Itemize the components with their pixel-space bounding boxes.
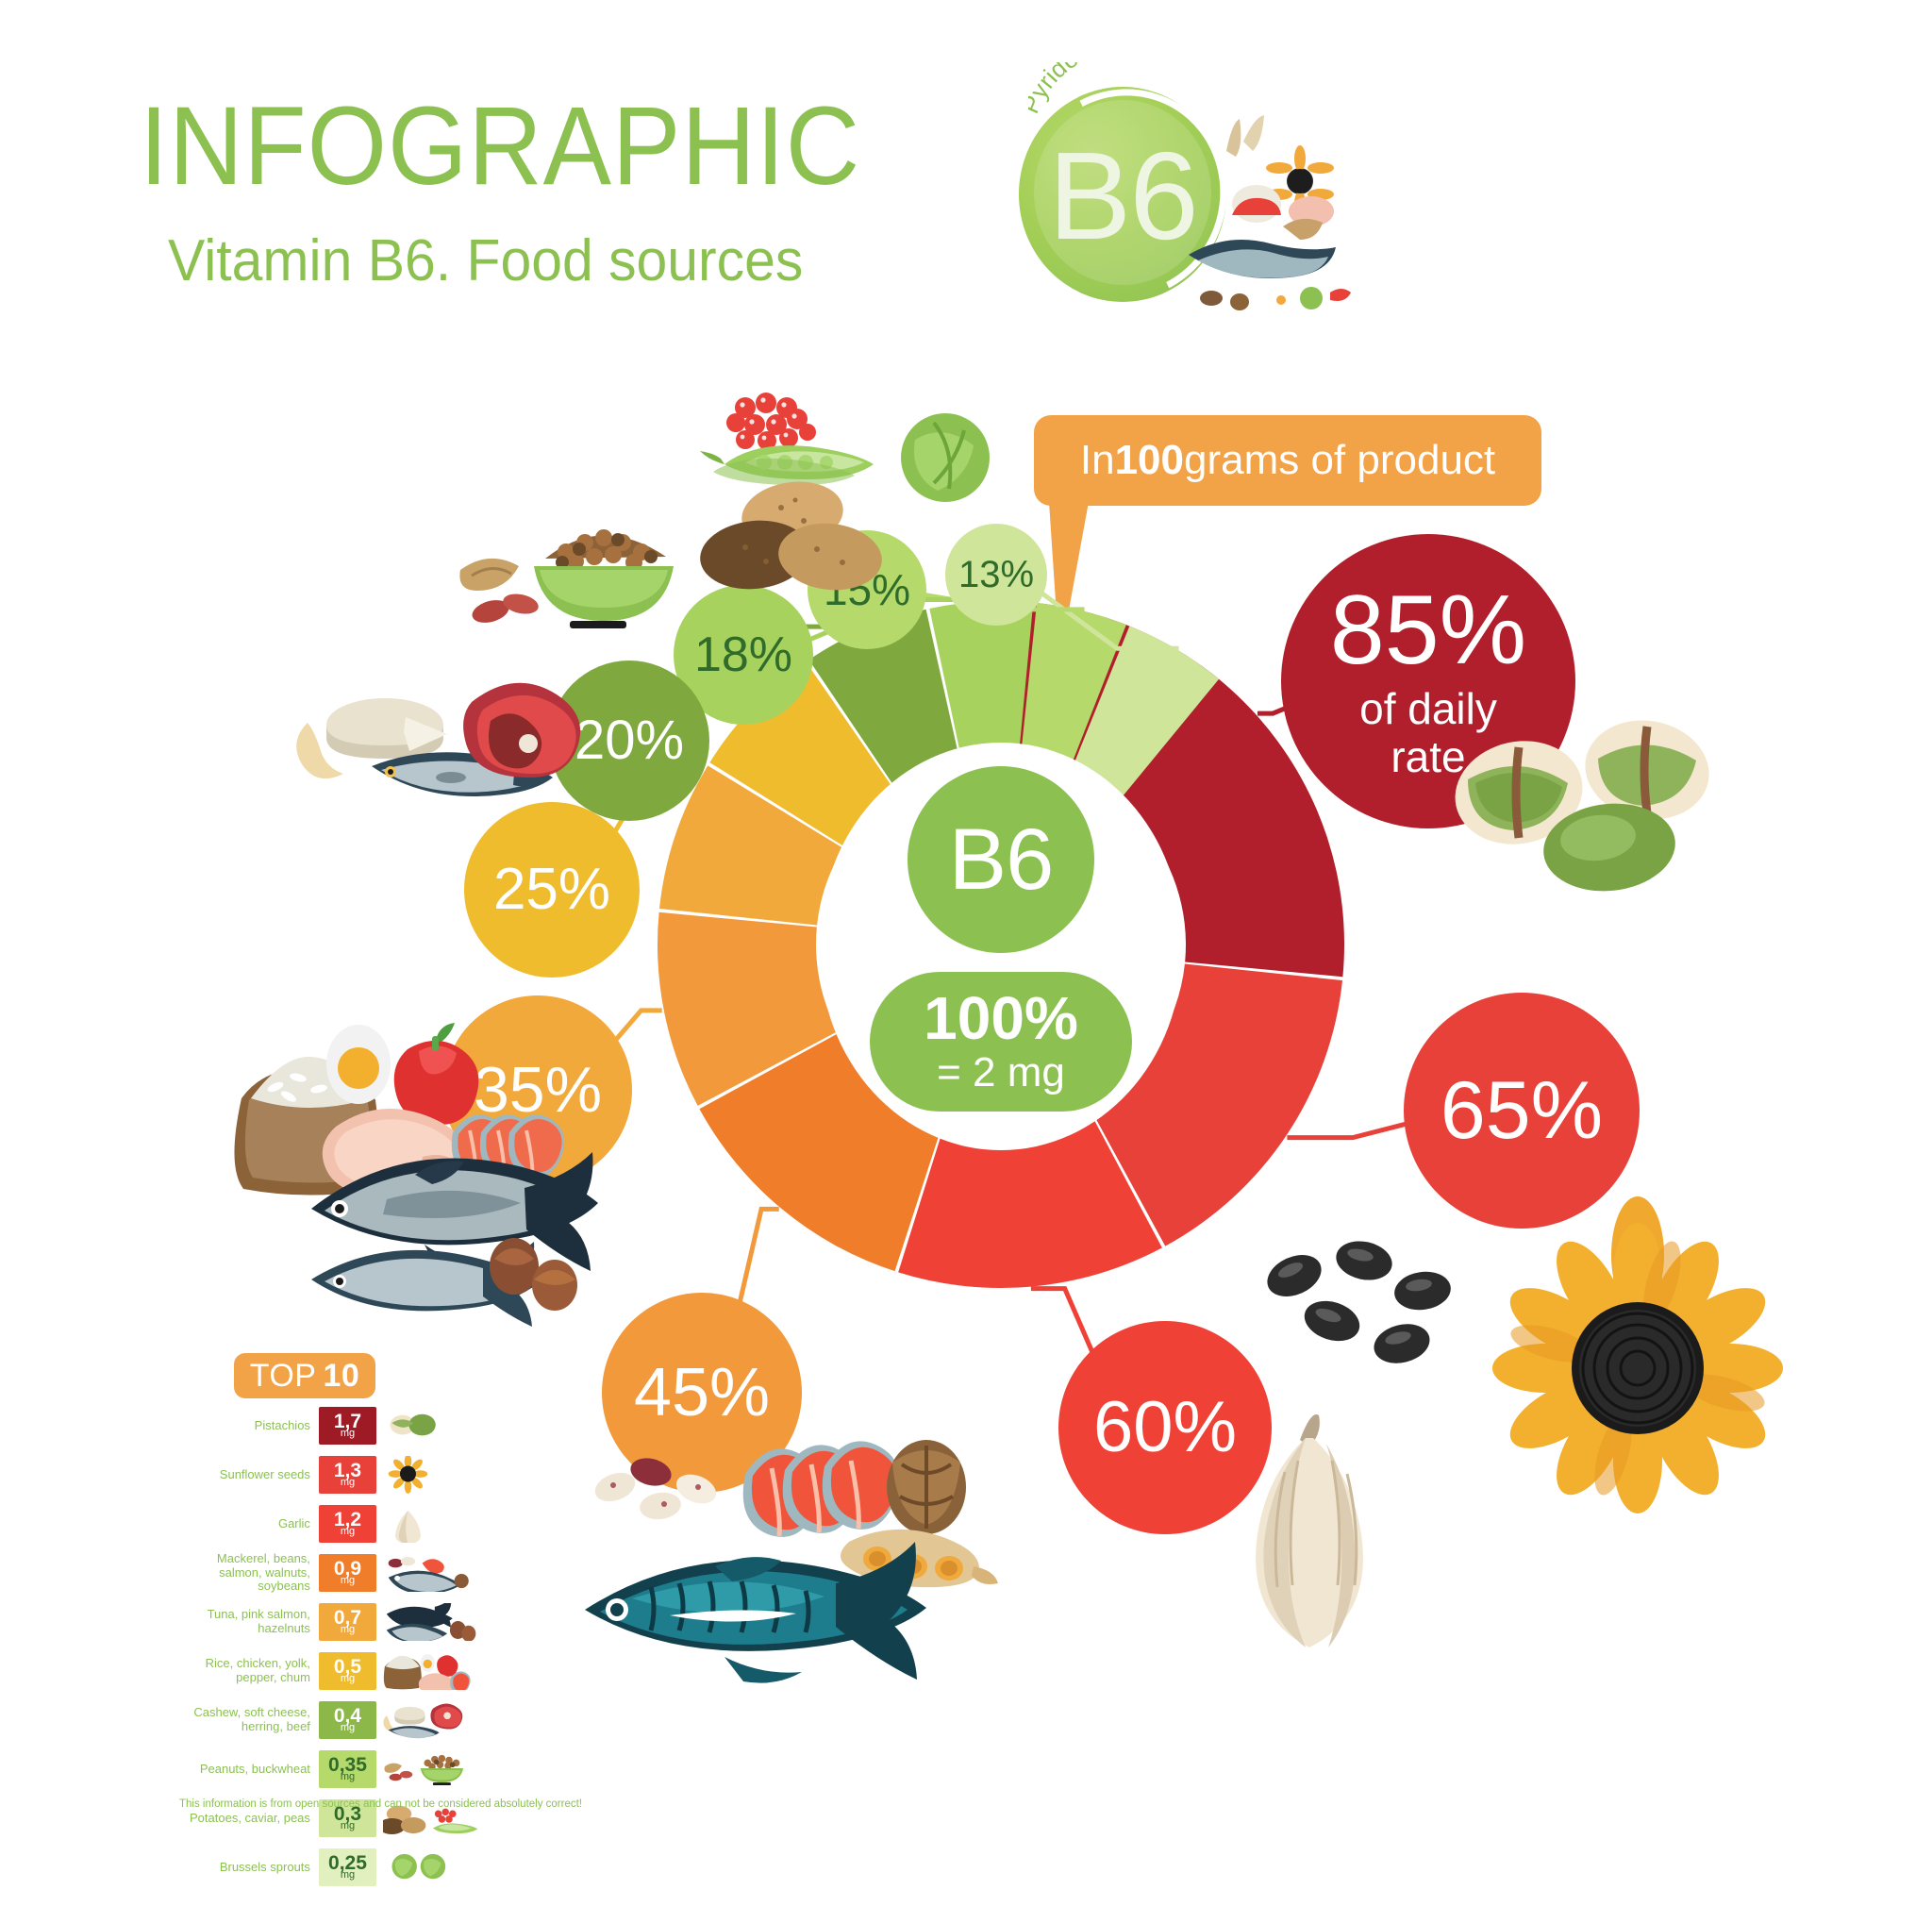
- percent-bubble-value: 85%: [1330, 581, 1526, 679]
- percent-bubble-value: 60%: [1093, 1392, 1237, 1463]
- percent-bubble-value: 13%: [958, 556, 1034, 594]
- top10-row-value-box: 0,35mg: [319, 1750, 376, 1788]
- top10-row-label: Mackerel, beans, salmon, walnuts, soybea…: [179, 1552, 319, 1595]
- percent-bubble-25: 25%: [464, 802, 640, 978]
- top10-badge-number: 10: [323, 1358, 359, 1395]
- callout-amount: 100: [1115, 437, 1184, 484]
- percent-bubble-value: 35%: [474, 1058, 602, 1122]
- callout-suffix: grams of product: [1184, 437, 1495, 484]
- page-subtitle: Vitamin B6. Food sources: [168, 232, 803, 291]
- hazelnuts-icon: [490, 1238, 577, 1311]
- percent-bubble-60: 60%: [1058, 1321, 1272, 1534]
- rice-chicken-icon: [383, 1652, 481, 1690]
- top10-row-unit: mg: [341, 1870, 355, 1881]
- top10-row-unit: mg: [341, 1625, 355, 1635]
- top10-row-value-box: 1,7mg: [319, 1407, 376, 1445]
- caviar-icon: [726, 393, 816, 450]
- b6-logo-badge: B6 Pyridoxine: [981, 57, 1358, 321]
- percent-bubble-caption: of dailyrate: [1359, 685, 1497, 780]
- top10-row: Mackerel, beans, salmon, walnuts, soybea…: [179, 1551, 481, 1595]
- top10-row-unit: mg: [341, 1527, 355, 1537]
- top10-badge: TOP10: [234, 1353, 375, 1398]
- top10-row-value-box: 0,9mg: [319, 1554, 376, 1592]
- svg-text:Pyridoxine: Pyridoxine: [1028, 62, 1124, 118]
- soybeans-icon: [841, 1530, 998, 1587]
- cashew-icon: [296, 723, 343, 778]
- mackerel-icon: [585, 1542, 926, 1683]
- top10-row-label: Peanuts, buckwheat: [179, 1763, 319, 1777]
- percent-bubble-value: 20%: [575, 713, 684, 768]
- cheese-beef-icon: [383, 1701, 481, 1739]
- buckwheat-bowl-icon: [534, 529, 674, 628]
- percent-bubble-15: 15%: [808, 530, 926, 649]
- top10-row-unit: mg: [341, 1478, 355, 1488]
- top10-row: Garlic1,2mg: [179, 1502, 481, 1546]
- top10-badge-text: TOP: [250, 1358, 317, 1395]
- top10-row-label: Cashew, soft cheese, herring, beef: [179, 1706, 319, 1734]
- top10-row-label: Garlic: [179, 1517, 319, 1531]
- page-title: INFOGRAPHIC: [140, 91, 860, 202]
- top10-row-label: Sunflower seeds: [179, 1468, 319, 1482]
- top10-row-value-box: 0,4mg: [319, 1701, 376, 1739]
- top10-row-unit: mg: [341, 1576, 355, 1586]
- chicken-icon: [323, 1109, 468, 1200]
- top10-row-unit: mg: [341, 1821, 355, 1831]
- percent-bubble-value: 45%: [634, 1359, 770, 1427]
- egg-yolk-icon: [326, 1025, 391, 1104]
- sunflower-icon: [1492, 1196, 1783, 1513]
- tuna-hazelnut-icon: [383, 1603, 481, 1641]
- food-pile-icon: [1170, 113, 1358, 311]
- center-b6-badge: B6: [908, 766, 1094, 953]
- percent-bubble-value: 65%: [1441, 1070, 1603, 1151]
- top10-rows: Pistachios1,7mgSunflower seeds1,3mgGarli…: [179, 1404, 481, 1889]
- top10-row-value-box: 0,7mg: [319, 1603, 376, 1641]
- herring-icon: [372, 752, 553, 796]
- percent-bubble-85: 85%of dailyrate: [1281, 534, 1575, 828]
- percent-bubble-value: 25%: [493, 861, 610, 919]
- percent-bubble-35: 35%: [443, 995, 632, 1184]
- fish-beans-icon: [383, 1554, 481, 1592]
- infographic-canvas: INFOGRAPHIC Vitamin B6. Food sources B6 …: [0, 0, 1932, 1923]
- rice-sack-icon: [234, 1057, 378, 1196]
- percent-bubble-value: 18%: [694, 630, 792, 679]
- top10-row-label: Brussels sprouts: [179, 1861, 319, 1875]
- brussels-sprouts-icon: [383, 1848, 481, 1886]
- top10-row-value-box: 0,25mg: [319, 1848, 376, 1886]
- garlic-icon: [383, 1505, 481, 1543]
- leader-line-60: [1031, 1289, 1092, 1352]
- top10-row-value-box: 1,3mg: [319, 1456, 376, 1494]
- percent-bubble-65: 65%: [1404, 993, 1640, 1229]
- garlic-icon: [1256, 1414, 1363, 1647]
- top10-row: Peanuts, buckwheat0,35mg: [179, 1747, 481, 1791]
- top10-row: Cashew, soft cheese, herring, beef0,4mg: [179, 1698, 481, 1742]
- callout-prefix: In: [1080, 437, 1115, 484]
- percent-bubble-45: 45%: [602, 1293, 802, 1493]
- pink-salmon-icon: [311, 1242, 538, 1327]
- top10-row: Brussels sprouts0,25mg: [179, 1846, 481, 1889]
- top10-row: Tuna, pink salmon, hazelnuts0,7mg: [179, 1600, 481, 1644]
- top10-row-unit: mg: [341, 1674, 355, 1684]
- callout-banner: In 100 grams of product: [1034, 415, 1541, 506]
- top10-row-label: Pistachios: [179, 1419, 319, 1433]
- percent-bubble-20: 20%: [549, 661, 709, 821]
- sunflower-icon: [383, 1456, 481, 1494]
- center-daily-rate-pill: 100% = 2 mg: [870, 972, 1132, 1112]
- peanuts-icon: [459, 559, 540, 627]
- center-percent: 100%: [924, 987, 1078, 1050]
- top10-row-label: Tuna, pink salmon, hazelnuts: [179, 1608, 319, 1636]
- top10-row-unit: mg: [341, 1772, 355, 1782]
- top10-row-label: Rice, chicken, yolk, pepper, chum: [179, 1657, 319, 1685]
- brussels-sprout-icon: [901, 413, 990, 502]
- peas-icon: [700, 445, 874, 485]
- top10-row-value-box: 0,5mg: [319, 1652, 376, 1690]
- pistachios-icon: [383, 1407, 481, 1445]
- top10-row-unit: mg: [341, 1429, 355, 1439]
- top10-row: Sunflower seeds1,3mg: [179, 1453, 481, 1497]
- walnut-icon: [887, 1440, 966, 1534]
- top10-row-value-box: 1,2mg: [319, 1505, 376, 1543]
- top10-row: Pistachios1,7mg: [179, 1404, 481, 1447]
- soft-cheese-icon: [326, 698, 447, 759]
- top10-row-label: Potatoes, caviar, peas: [179, 1812, 319, 1826]
- leader-line-35: [616, 1011, 662, 1040]
- percent-bubble-value: 15%: [824, 568, 910, 611]
- percent-bubble-13: 13%: [945, 524, 1047, 626]
- peanuts-buckwheat-icon: [383, 1750, 481, 1788]
- center-equals: = 2 mg: [937, 1050, 1065, 1095]
- disclaimer-text: This information is from open sources an…: [179, 1798, 582, 1810]
- top10-row-unit: mg: [341, 1723, 355, 1733]
- top10-row: Rice, chicken, yolk, pepper, chum0,5mg: [179, 1649, 481, 1693]
